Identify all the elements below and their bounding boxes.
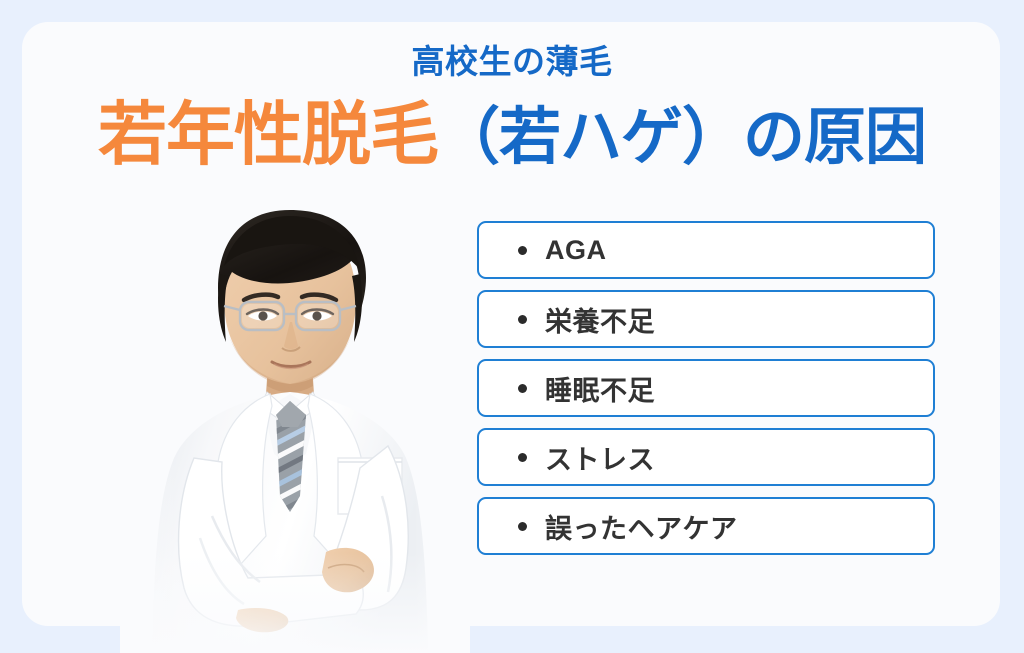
list-item-label: ストレス bbox=[545, 438, 655, 477]
list-item[interactable]: 誤ったヘアケア bbox=[477, 497, 935, 555]
bullet-icon bbox=[518, 246, 527, 255]
bullet-icon bbox=[518, 315, 527, 324]
list-item[interactable]: ストレス bbox=[477, 428, 935, 486]
causes-list: AGA 栄養不足 睡眠不足 ストレス 誤ったヘアケア bbox=[477, 221, 935, 555]
list-item[interactable]: 睡眠不足 bbox=[477, 359, 935, 417]
page-title: 若年性脱毛（若ハゲ）の原因 bbox=[0, 96, 1024, 173]
bullet-icon bbox=[518, 453, 527, 462]
subtitle: 高校生の薄毛 bbox=[0, 44, 1024, 80]
list-item-label: 睡眠不足 bbox=[545, 369, 655, 408]
infographic-page: 高校生の薄毛 若年性脱毛（若ハゲ）の原因 bbox=[0, 0, 1024, 653]
list-item[interactable]: 栄養不足 bbox=[477, 290, 935, 348]
list-item[interactable]: AGA bbox=[477, 221, 935, 279]
list-item-label: AGA bbox=[545, 235, 607, 266]
title-orange-part: 若年性脱毛 bbox=[98, 96, 438, 173]
title-blue-part: （若ハゲ）の原因 bbox=[438, 103, 926, 172]
bullet-icon bbox=[518, 522, 527, 531]
doctor-photo bbox=[120, 196, 470, 653]
doctor-illustration-svg bbox=[120, 196, 470, 653]
list-item-label: 誤ったヘアケア bbox=[545, 507, 738, 546]
list-item-label: 栄養不足 bbox=[545, 300, 655, 339]
bullet-icon bbox=[518, 384, 527, 393]
